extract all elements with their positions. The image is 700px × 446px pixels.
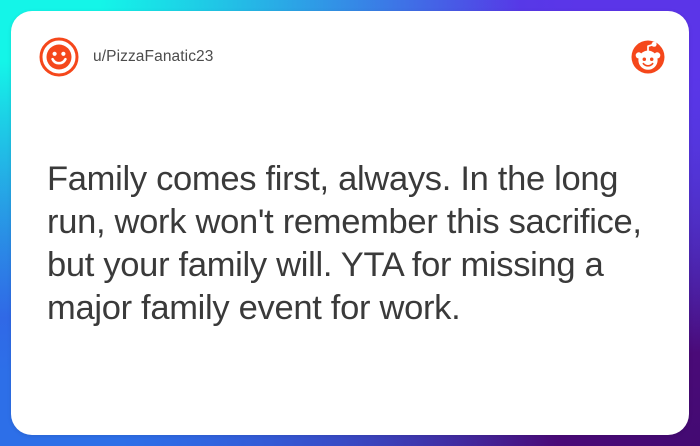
reddit-snoo-icon[interactable]: [631, 40, 665, 74]
smiley-face-icon[interactable]: [39, 37, 79, 77]
comment-text: Family comes first, always. In the long …: [47, 158, 659, 330]
username-label[interactable]: u/PizzaFanatic23: [93, 48, 214, 66]
card-header: u/PizzaFanatic23: [39, 34, 665, 80]
screenshot-root: u/PizzaFanatic23 Family comes first, alw…: [0, 0, 700, 446]
reddit-comment-card: u/PizzaFanatic23 Family comes first, alw…: [11, 11, 689, 435]
